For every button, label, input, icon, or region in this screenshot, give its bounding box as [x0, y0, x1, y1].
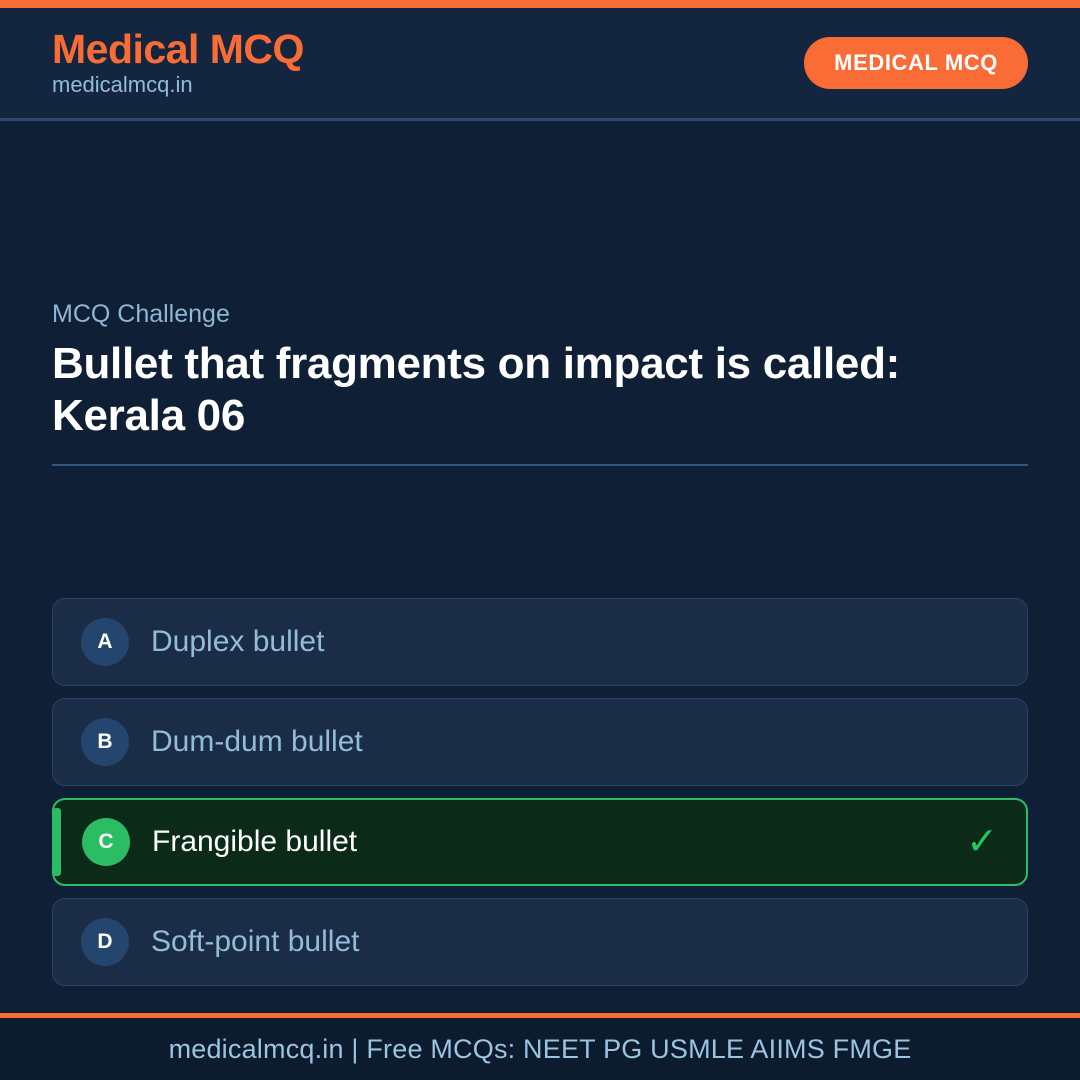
- footer: medicalmcq.in | Free MCQs: NEET PG USMLE…: [0, 1013, 1080, 1080]
- option-letter-badge: D: [81, 918, 129, 966]
- option-row-a[interactable]: A Duplex bullet: [52, 598, 1028, 686]
- option-label: Soft-point bullet: [151, 924, 359, 960]
- main-content: MCQ Challenge Bullet that fragments on i…: [0, 121, 1080, 1013]
- option-row-d[interactable]: D Soft-point bullet: [52, 898, 1028, 986]
- header: Medical MCQ medicalmcq.in MEDICAL MCQ: [0, 8, 1080, 121]
- option-label: Frangible bullet: [152, 824, 357, 860]
- brand: Medical MCQ medicalmcq.in: [52, 28, 304, 97]
- options-list: A Duplex bullet B Dum-dum bullet C Frang…: [52, 598, 1028, 986]
- question-kicker: MCQ Challenge: [52, 299, 1028, 329]
- mcq-card: Medical MCQ medicalmcq.in MEDICAL MCQ MC…: [0, 0, 1080, 1080]
- option-letter-badge: C: [82, 818, 130, 866]
- option-letter-badge: B: [81, 718, 129, 766]
- brand-subtitle: medicalmcq.in: [52, 73, 304, 97]
- option-row-b[interactable]: B Dum-dum bullet: [52, 698, 1028, 786]
- check-icon: ✓: [966, 823, 998, 861]
- header-badge: MEDICAL MCQ: [804, 37, 1028, 89]
- footer-text: medicalmcq.in | Free MCQs: NEET PG USMLE…: [169, 1034, 912, 1065]
- top-accent-bar: [0, 0, 1080, 8]
- option-letter-badge: A: [81, 618, 129, 666]
- question-divider: [52, 464, 1028, 466]
- brand-title: Medical MCQ: [52, 28, 304, 71]
- question-title: Bullet that fragments on impact is calle…: [52, 338, 1028, 442]
- option-label: Duplex bullet: [151, 624, 324, 660]
- option-row-c[interactable]: C Frangible bullet ✓: [52, 798, 1028, 886]
- correct-accent-bar: [54, 808, 61, 876]
- option-label: Dum-dum bullet: [151, 724, 363, 760]
- question-block: MCQ Challenge Bullet that fragments on i…: [52, 299, 1028, 466]
